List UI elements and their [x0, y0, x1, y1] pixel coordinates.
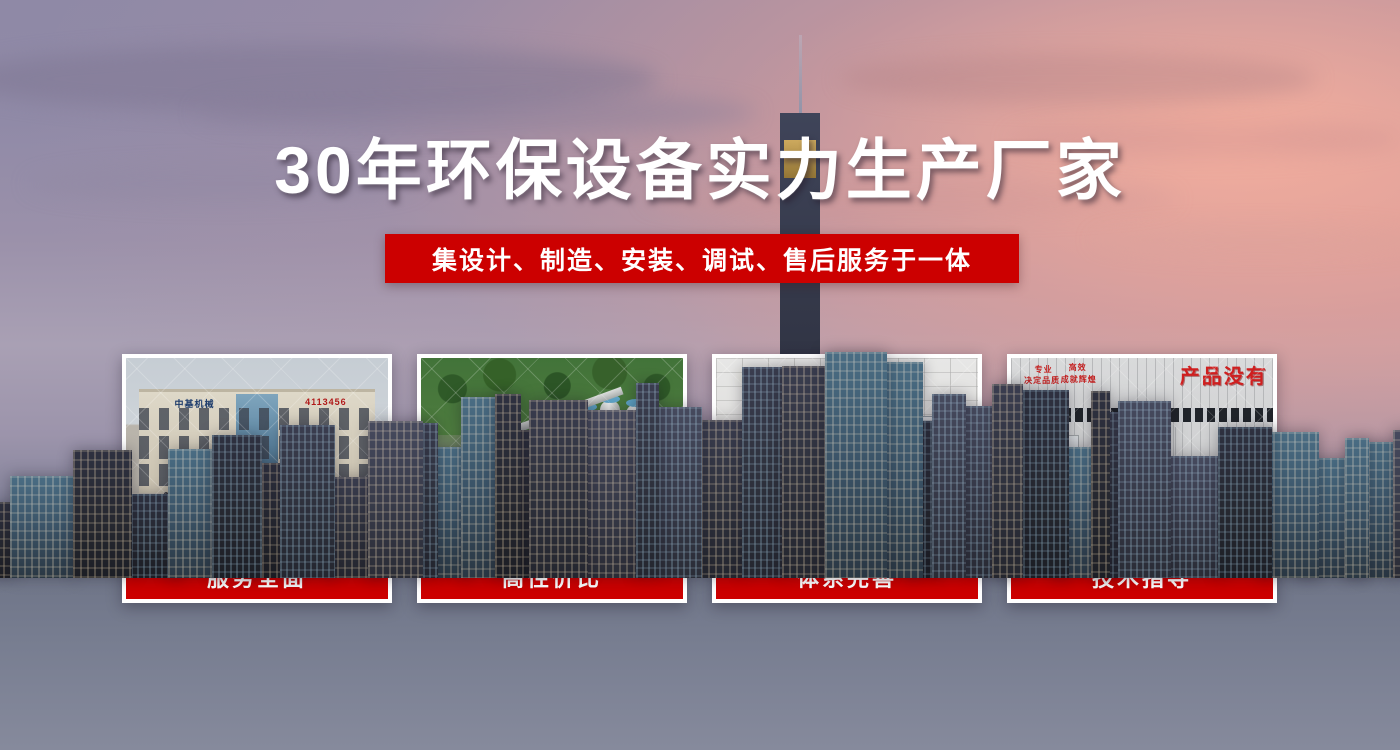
building-windows — [1345, 438, 1368, 578]
subtitle-text: 集设计、制造、安装、调试、售后服务于一体 — [432, 241, 972, 277]
building-windows — [932, 394, 966, 578]
building-windows — [653, 407, 702, 578]
skyline-building — [636, 383, 660, 577]
skyline-building — [10, 476, 76, 577]
building-windows — [782, 366, 827, 577]
factory-slogan: 成就辉煌 — [1061, 374, 1097, 385]
skyline-building — [992, 384, 1023, 577]
skyline-building — [212, 435, 262, 577]
promo-banner: 30年环保设备实力生产厂家 集设计、制造、安装、调试、售后服务于一体 中基机械 … — [0, 0, 1400, 750]
building-windows — [212, 435, 262, 577]
factory-wall-text: 产品没有 — [1180, 360, 1268, 389]
building-windows — [636, 383, 660, 577]
skyline-building — [368, 421, 424, 577]
skyline-building — [529, 400, 588, 578]
skyline-building — [1393, 430, 1400, 578]
cloud-streak — [196, 90, 756, 135]
building-windows — [368, 421, 424, 577]
skyline-building — [280, 425, 334, 578]
building-windows — [825, 352, 887, 577]
building-windows — [742, 367, 786, 577]
skyline-building — [1118, 401, 1171, 578]
skyline-building — [742, 367, 786, 577]
building-phone-text: 4113456 — [305, 397, 347, 407]
skyline-building — [932, 394, 966, 578]
building-windows — [10, 476, 76, 577]
skyline-building — [495, 394, 520, 577]
skyline-building — [1091, 391, 1110, 578]
building-windows — [73, 450, 132, 578]
skyline-building — [701, 420, 745, 577]
building-windows — [1218, 427, 1272, 577]
cloud-streak — [840, 53, 1316, 106]
building-windows — [1393, 430, 1400, 578]
building-windows — [495, 394, 520, 577]
building-windows — [529, 400, 588, 578]
factory-slogan: 高效 — [1069, 362, 1087, 373]
skyline-building — [1167, 456, 1224, 577]
skyline-building — [73, 450, 132, 578]
skyline-building — [882, 362, 923, 577]
skyline-building — [1218, 427, 1272, 577]
page-title: 30年环保设备实力生产厂家 — [0, 134, 1400, 207]
subtitle-banner: 集设计、制造、安装、调试、售后服务于一体 — [385, 234, 1019, 283]
skyline-building — [782, 366, 827, 577]
skyline-building — [653, 407, 702, 578]
building-windows — [701, 420, 745, 577]
building-windows — [992, 384, 1023, 577]
factory-slogan: 决定品质 — [1024, 375, 1060, 386]
skyline-building — [825, 352, 887, 577]
building-windows — [1091, 391, 1110, 578]
building-windows — [280, 425, 334, 578]
building-windows — [1167, 456, 1224, 577]
skyline-building — [1345, 438, 1368, 578]
building-windows — [882, 362, 923, 577]
building-windows — [1118, 401, 1171, 578]
factory-slogan: 专业 — [1035, 364, 1053, 375]
